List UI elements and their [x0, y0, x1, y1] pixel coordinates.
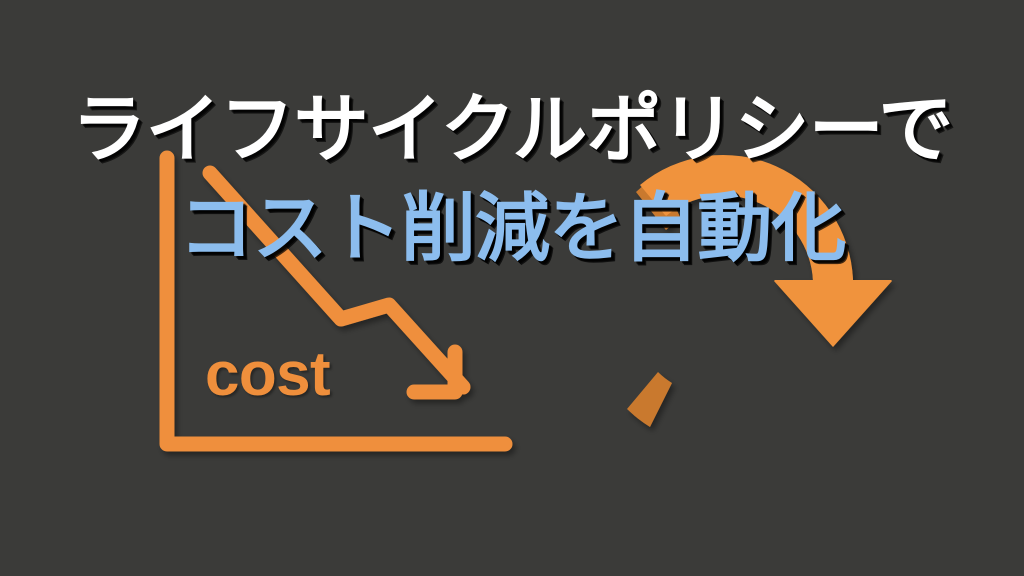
recycle-arc-lower: [640, 155, 892, 346]
cost-axis-label: cost: [205, 344, 330, 406]
thumbnail-canvas: cost ライフサイクルポリシーで コスト削減を自動化: [0, 0, 1024, 576]
recycle-shadow-bottom: [627, 372, 672, 427]
graphics-layer: [0, 0, 1024, 576]
recycle-loop-icon: [627, 155, 892, 427]
